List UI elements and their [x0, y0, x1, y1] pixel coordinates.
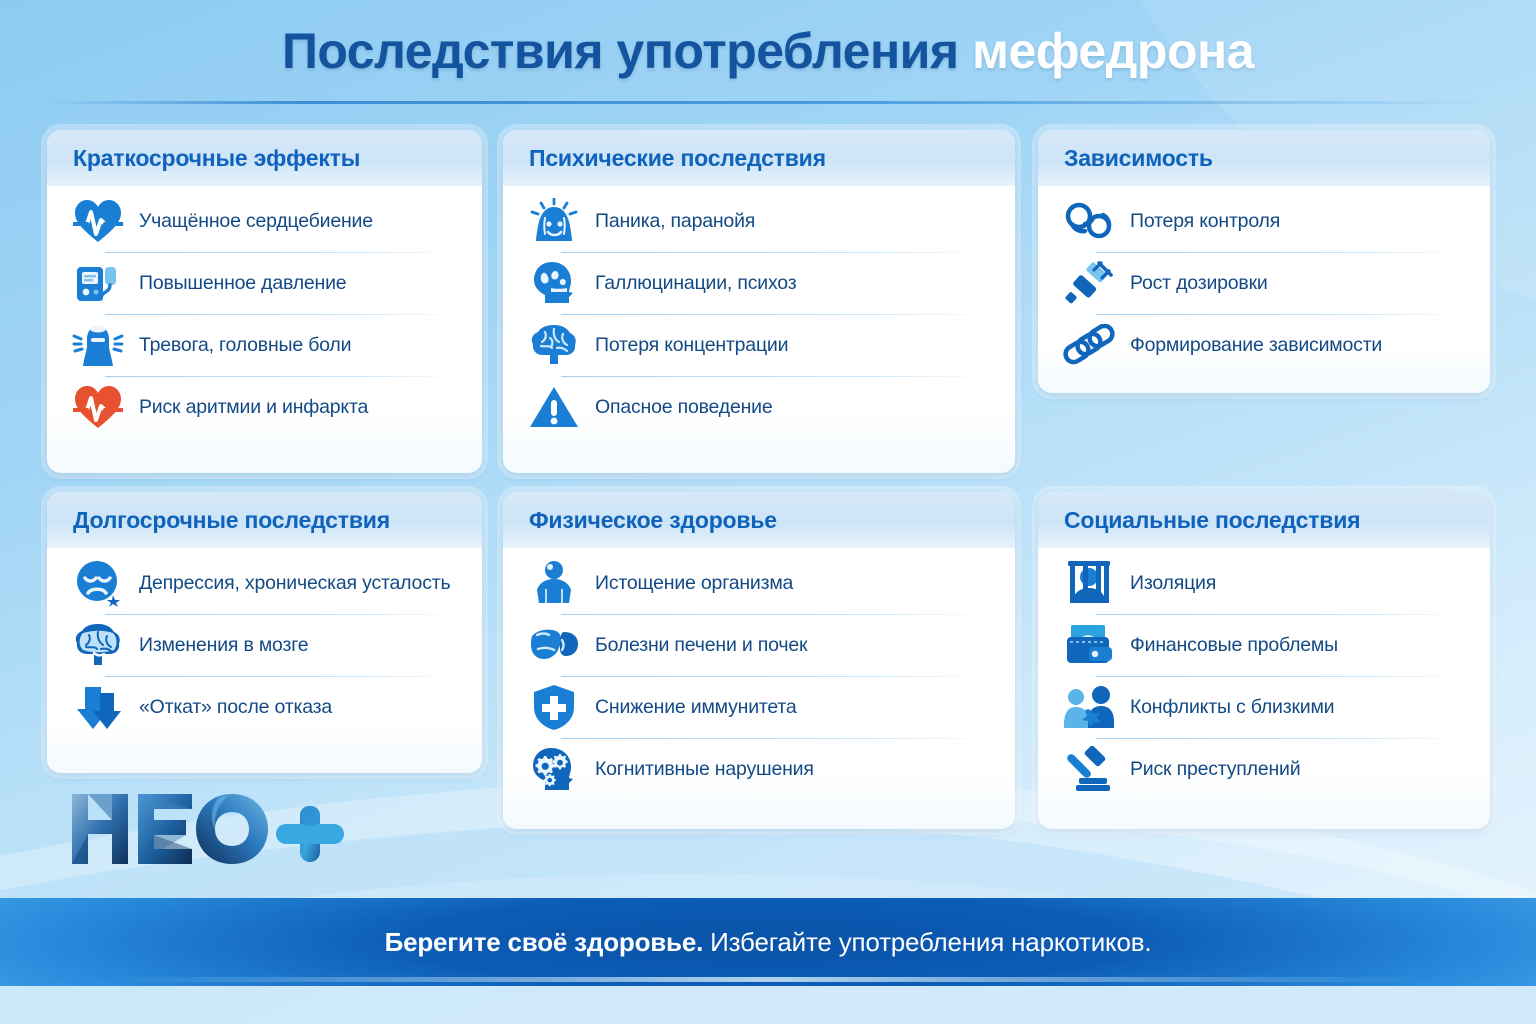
list-item-label: Конфликты с близкими [1130, 696, 1334, 718]
page-title-primary: Последствия употребления [282, 23, 959, 79]
list-item-label: Рост дозировки [1130, 272, 1268, 294]
card-addiction: Зависимость Потеря контроля [1038, 130, 1490, 393]
list-item[interactable]: Депрессия, хроническая усталость [63, 552, 466, 614]
sad-face-icon [71, 556, 125, 610]
card-title: Краткосрочные эффекты [73, 145, 360, 172]
page-title: Последствия употребления мефедрона [282, 22, 1254, 80]
hallucination-head-icon [527, 256, 581, 310]
list-item[interactable]: Тревога, головные боли [63, 314, 466, 376]
card-header: Социальные последствия [1038, 492, 1490, 548]
conflict-people-icon [1062, 680, 1116, 734]
list-item-label: Изоляция [1130, 572, 1216, 594]
panic-face-icon [527, 194, 581, 248]
card-title: Зависимость [1064, 145, 1213, 172]
cognitive-gears-head-icon [527, 742, 581, 796]
list-item-label: Болезни печени и почек [595, 634, 807, 656]
footer-message-bold: Берегите своё здоровье. [385, 927, 704, 957]
down-arrows-icon [71, 680, 125, 734]
infographic-poster: Последствия употребления мефедрона Кратк… [0, 0, 1536, 1024]
gavel-icon [1062, 742, 1116, 796]
list-item-label: «Откат» после отказа [139, 696, 332, 718]
card-mental-consequences: Психические последствия Паника, паранойя [503, 130, 1015, 473]
list-item[interactable]: Рост дозировки [1054, 252, 1474, 314]
list-item-label: Депрессия, хроническая усталость [139, 572, 450, 594]
list-item[interactable]: Паника, паранойя [519, 190, 999, 252]
card-body: Потеря контроля Рост дозировки [1038, 186, 1490, 393]
list-item-label: Опасное поведение [595, 396, 773, 418]
list-item[interactable]: Риск аритмии и инфаркта [63, 376, 466, 438]
list-item-label: Потеря концентрации [595, 334, 788, 356]
wallet-icon [1062, 618, 1116, 672]
card-header: Краткосрочные эффекты [47, 130, 482, 186]
list-item[interactable]: Риск преступлений [1054, 738, 1474, 800]
handcuffs-icon [1062, 194, 1116, 248]
heart-attack-icon [71, 380, 125, 434]
list-item-label: Риск аритмии и инфаркта [139, 396, 368, 418]
list-item[interactable]: Изменения в мозге [63, 614, 466, 676]
card-short-term-effects: Краткосрочные эффекты Учащённое сердцеби… [47, 130, 482, 473]
list-item[interactable]: Истощение организма [519, 552, 999, 614]
page-title-highlight: мефедрона [972, 23, 1254, 79]
list-item[interactable]: Опасное поведение [519, 376, 999, 438]
list-item-label: Истощение организма [595, 572, 793, 594]
list-item[interactable]: «Откат» после отказа [63, 676, 466, 738]
list-item-label: Галлюцинации, психоз [595, 272, 796, 294]
card-title: Долгосрочные последствия [73, 507, 390, 534]
list-item-label: Изменения в мозге [139, 634, 308, 656]
exhausted-person-icon [527, 556, 581, 610]
card-title: Психические последствия [529, 145, 826, 172]
list-item[interactable]: Потеря контроля [1054, 190, 1474, 252]
list-item[interactable]: Болезни печени и почек [519, 614, 999, 676]
list-item[interactable]: Галлюцинации, психоз [519, 252, 999, 314]
poster-header: Последствия употребления мефедрона [0, 0, 1536, 112]
card-body: Учащённое сердцебиение Повышенное [47, 186, 482, 473]
list-item-label: Риск преступлений [1130, 758, 1300, 780]
liver-kidney-icon [527, 618, 581, 672]
brain-icon [527, 318, 581, 372]
neo-plus-logo[interactable] [64, 790, 354, 868]
card-header: Долгосрочные последствия [47, 492, 482, 548]
brain-changes-icon [71, 618, 125, 672]
footer-banner: Берегите своё здоровье. Избегайте употре… [0, 898, 1536, 986]
chain-link-icon [1062, 318, 1116, 372]
list-item-label: Финансовые проблемы [1130, 634, 1338, 656]
list-item[interactable]: Снижение иммунитета [519, 676, 999, 738]
list-item-label: Учащённое сердцебиение [139, 210, 373, 232]
card-body: Паника, паранойя Галлюцинации, психоз [503, 186, 1015, 473]
list-item[interactable]: Когнитивные нарушения [519, 738, 999, 800]
list-item-label: Повышенное давление [139, 272, 346, 294]
heart-pulse-icon [71, 194, 125, 248]
list-item-label: Формирование зависимости [1130, 334, 1382, 356]
card-long-term-consequences: Долгосрочные последствия Депрессия, хрон… [47, 492, 482, 773]
list-item[interactable]: Изоляция [1054, 552, 1474, 614]
list-item[interactable]: Финансовые проблемы [1054, 614, 1474, 676]
title-divider [46, 101, 1490, 104]
list-item[interactable]: Формирование зависимости [1054, 314, 1474, 376]
syringe-icon [1062, 256, 1116, 310]
list-item-label: Паника, паранойя [595, 210, 755, 232]
list-item[interactable]: Повышенное давление [63, 252, 466, 314]
card-body: Истощение организма Болезни печени и поч… [503, 548, 1015, 829]
card-title: Социальные последствия [1064, 507, 1360, 534]
list-item[interactable]: Потеря концентрации [519, 314, 999, 376]
card-header: Физическое здоровье [503, 492, 1015, 548]
card-body: Изоляция Финансовые проблемы [1038, 548, 1490, 829]
footer-message: Берегите своё здоровье. Избегайте употре… [385, 927, 1152, 958]
warning-triangle-icon [527, 380, 581, 434]
list-item[interactable]: Конфликты с близкими [1054, 676, 1474, 738]
headache-person-icon [71, 318, 125, 372]
card-header: Зависимость [1038, 130, 1490, 186]
list-item-label: Когнитивные нарушения [595, 758, 814, 780]
list-item[interactable]: Учащённое сердцебиение [63, 190, 466, 252]
list-item-label: Тревога, головные боли [139, 334, 351, 356]
card-header: Психические последствия [503, 130, 1015, 186]
shield-cross-icon [527, 680, 581, 734]
prison-isolation-icon [1062, 556, 1116, 610]
list-item-label: Снижение иммунитета [595, 696, 797, 718]
card-social-consequences: Социальные последствия Изоляция [1038, 492, 1490, 829]
list-item-label: Потеря контроля [1130, 210, 1280, 232]
card-body: Депрессия, хроническая усталость Изменен… [47, 548, 482, 773]
card-title: Физическое здоровье [529, 507, 777, 534]
card-physical-health: Физическое здоровье Истощение организма [503, 492, 1015, 829]
footer-message-normal: Избегайте употребления наркотиков. [703, 927, 1151, 957]
blood-pressure-monitor-icon [71, 256, 125, 310]
